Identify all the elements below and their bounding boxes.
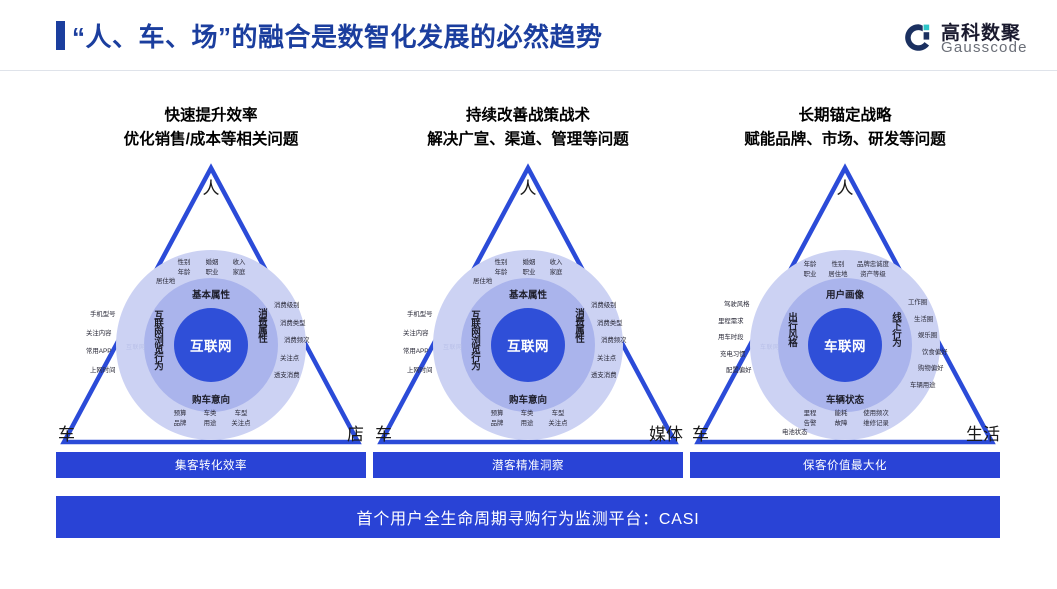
ring-title-left-1: 互联网浏览行为	[150, 310, 164, 382]
brand-logo: 高科数聚 Gausscode	[903, 18, 1038, 58]
keywords-left-2: 手机型号 关注内容 常用APP 上网时间	[401, 310, 433, 375]
corner-right-2: 媒体	[649, 426, 683, 443]
ring-title-left-3: 出行风格	[784, 312, 798, 374]
ring-title-top-2: 基本属性	[509, 287, 547, 301]
ring-core-1: 互联网	[174, 308, 248, 382]
keywords-right-2: 消费级别 消费类型 消费频次 关注点 透支消费	[591, 301, 627, 381]
corner-top-2: 人	[520, 180, 537, 197]
triangle-panel-3: 车联网 车联网 用户画像 车辆状态 出行风格 线下行为 年龄性别品牌忠诚度 职业…	[690, 160, 1000, 450]
watermark-1: 互联网	[126, 342, 146, 351]
result-bar-2: 潜客精准洞察	[373, 452, 683, 478]
title-accent-bar	[56, 21, 65, 50]
triangle-panel-2: 互联网 互联网 基本属性 购车意向 互联网浏览行为 消费属性 性别婚姻收入 年龄…	[373, 160, 683, 450]
ring-title-bottom-3: 车辆状态	[826, 392, 864, 406]
keywords-left-1: 手机型号 关注内容 常用APP 上网时间	[84, 310, 116, 375]
ring-title-left-2: 互联网浏览行为	[467, 310, 481, 382]
corner-left-3: 车	[692, 426, 709, 443]
result-bar-3: 保客价值最大化	[690, 452, 1000, 478]
ring-title-right-1: 消费属性	[254, 308, 268, 370]
keywords-bottom-3: 里程能耗使用频次 告警故障维修记录 电池状态	[774, 409, 916, 438]
ring-title-top-1: 基本属性	[192, 287, 230, 301]
ring-title-right-3: 线下行为	[888, 312, 902, 374]
ring-core-2: 互联网	[491, 308, 565, 382]
column-heading-1-line1: 快速提升效率	[164, 107, 257, 124]
ring-core-3: 车联网	[808, 308, 882, 382]
corner-right-3: 生活	[966, 426, 1000, 443]
keywords-left-3: 驾驶风格 里程需求 用车时段 充电习惯 配置偏好	[716, 300, 752, 376]
gausscode-logo-icon	[903, 22, 934, 53]
corner-left-2: 车	[375, 426, 392, 443]
header-divider	[0, 70, 1057, 71]
keywords-right-1: 消费级别 消费类型 消费频次 关注点 透支消费	[274, 301, 310, 381]
column-heading-1: 快速提升效率 优化销售/成本等相关问题	[56, 104, 366, 152]
column-heading-3-line1: 长期锚定战略	[798, 107, 891, 124]
ring-title-top-3: 用户画像	[826, 287, 864, 301]
column-heading-2: 持续改善战策战术 解决广宣、渠道、管理等问题	[373, 104, 683, 152]
column-heading-3-line2: 赋能品牌、市场、研发等问题	[690, 128, 1000, 152]
corner-left-1: 车	[58, 426, 75, 443]
keywords-top-3: 年龄性别品牌忠诚度 职业居住地资产等级	[774, 260, 916, 279]
watermark-3: 车联网	[760, 342, 780, 351]
column-heading-2-line1: 持续改善战策战术	[466, 107, 590, 124]
corner-top-3: 人	[837, 180, 854, 197]
ring-title-bottom-2: 购车意向	[509, 392, 547, 406]
result-bar-1: 集客转化效率	[56, 452, 366, 478]
corner-top-1: 人	[203, 180, 220, 197]
core-label-2: 互联网	[507, 335, 549, 355]
ring-title-right-2: 消费属性	[571, 308, 585, 370]
keywords-top-2: 性别婚姻收入 年龄职业家庭 居住地	[461, 258, 595, 287]
platform-banner: 首个用户全生命周期寻购行为监测平台：CASI	[56, 496, 1000, 538]
column-heading-2-line2: 解决广宣、渠道、管理等问题	[373, 128, 683, 152]
page-title: “人、车、场”的融合是数智化发展的必然趋势	[72, 17, 603, 54]
triangle-panel-1: 互联网 互联网 基本属性 购车意向 互联网浏览行为 消费属性 性别婚姻收入 年龄…	[56, 160, 366, 450]
keywords-bottom-2: 预算车类车型 品牌用途关注点	[461, 409, 595, 428]
logo-text-en: Gausscode	[941, 39, 1028, 56]
slide-header: “人、车、场”的融合是数智化发展的必然趋势 高科数聚 Gausscode	[0, 0, 1057, 71]
column-heading-1-line2: 优化销售/成本等相关问题	[56, 128, 366, 152]
column-heading-3: 长期锚定战略 赋能品牌、市场、研发等问题	[690, 104, 1000, 152]
keywords-right-3: 工作圈 生活圈 娱乐圈 饮食偏好 购物偏好 车辆用途	[908, 298, 948, 391]
watermark-2: 互联网	[443, 342, 463, 351]
corner-right-1: 店	[347, 426, 364, 443]
keywords-top-1: 性别婚姻收入 年龄职业家庭 居住地	[144, 258, 278, 287]
core-label-3: 车联网	[824, 335, 866, 355]
keywords-bottom-1: 预算车类车型 品牌用途关注点	[144, 409, 278, 428]
ring-title-bottom-1: 购车意向	[192, 392, 230, 406]
core-label-1: 互联网	[190, 335, 232, 355]
